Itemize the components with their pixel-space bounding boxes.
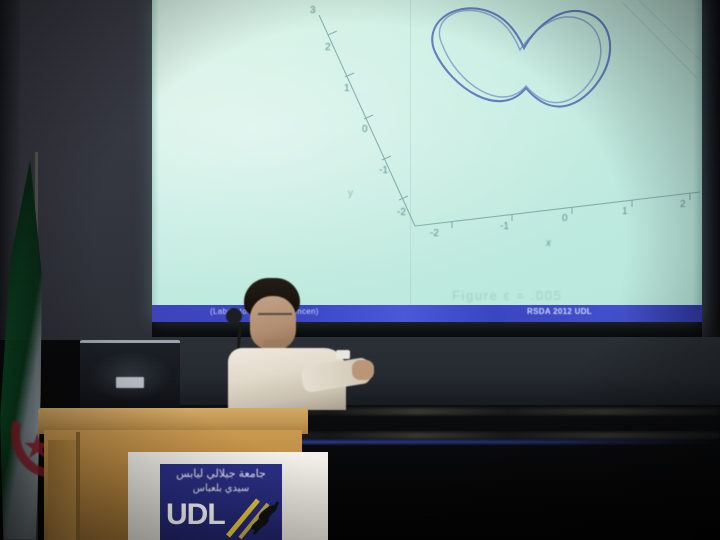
y-axis-name: y: [348, 188, 353, 199]
logo-acronym: UDL: [166, 498, 225, 532]
logo-arabic-line-2: سيدي بلعباس: [160, 483, 282, 494]
presenter-figure: [228, 278, 368, 410]
podium-side-panel: [48, 440, 76, 540]
right-wall: [702, 0, 720, 345]
limit-cycle-curve: [432, 8, 610, 106]
axis-continuation-a: [622, 2, 697, 78]
axis-continuation-b: [639, 0, 702, 64]
x-tick-label: -1: [500, 221, 509, 232]
olive-branch-icon: [224, 494, 280, 540]
podium-edge: [76, 432, 80, 540]
y-axis-line: [319, 15, 415, 226]
y-tick-label: 2: [325, 42, 331, 53]
presenter-clicker-icon: [336, 350, 350, 359]
x-axis-line: [415, 192, 700, 226]
microphone-icon: [226, 308, 242, 324]
y-tick-label: 0: [362, 124, 368, 135]
y-tick-label: -2: [397, 207, 406, 218]
speaker-badge: [116, 377, 144, 388]
logo-arabic-line-1: جامعة جيلالي ليابس: [160, 467, 282, 480]
presenter-hand: [352, 360, 374, 380]
slide-plot: 3 2 1 0 -1 -2 y -2 -1 0 1 2 x: [152, 0, 702, 305]
university-logo: جامعة جيلالي ليابس سيدي بلعباس UDL: [160, 464, 282, 540]
figure-caption: Figure ε = .005: [452, 288, 562, 303]
y-tick-label: 1: [344, 83, 350, 94]
x-tick-label: 2: [680, 199, 686, 210]
plot-svg: [152, 0, 702, 305]
x-tick-label: 1: [622, 206, 628, 217]
slide-footer-right: RSDA 2012 UDL: [527, 307, 592, 316]
x-axis-label: x: [546, 238, 551, 249]
x-tick-label: -2: [430, 228, 439, 239]
y-tick-label: -1: [379, 165, 388, 176]
y-tick-label: 3: [310, 5, 316, 16]
presentation-photo: 3 2 1 0 -1 -2 y -2 -1 0 1 2 x Figure ε =…: [0, 0, 720, 540]
x-tick-label: 0: [562, 213, 568, 224]
loudspeaker: [80, 340, 180, 411]
glasses-icon: [258, 313, 292, 323]
speaker-cone-icon: [88, 351, 172, 401]
projection-screen: 3 2 1 0 -1 -2 y -2 -1 0 1 2 x Figure ε =…: [152, 0, 702, 322]
